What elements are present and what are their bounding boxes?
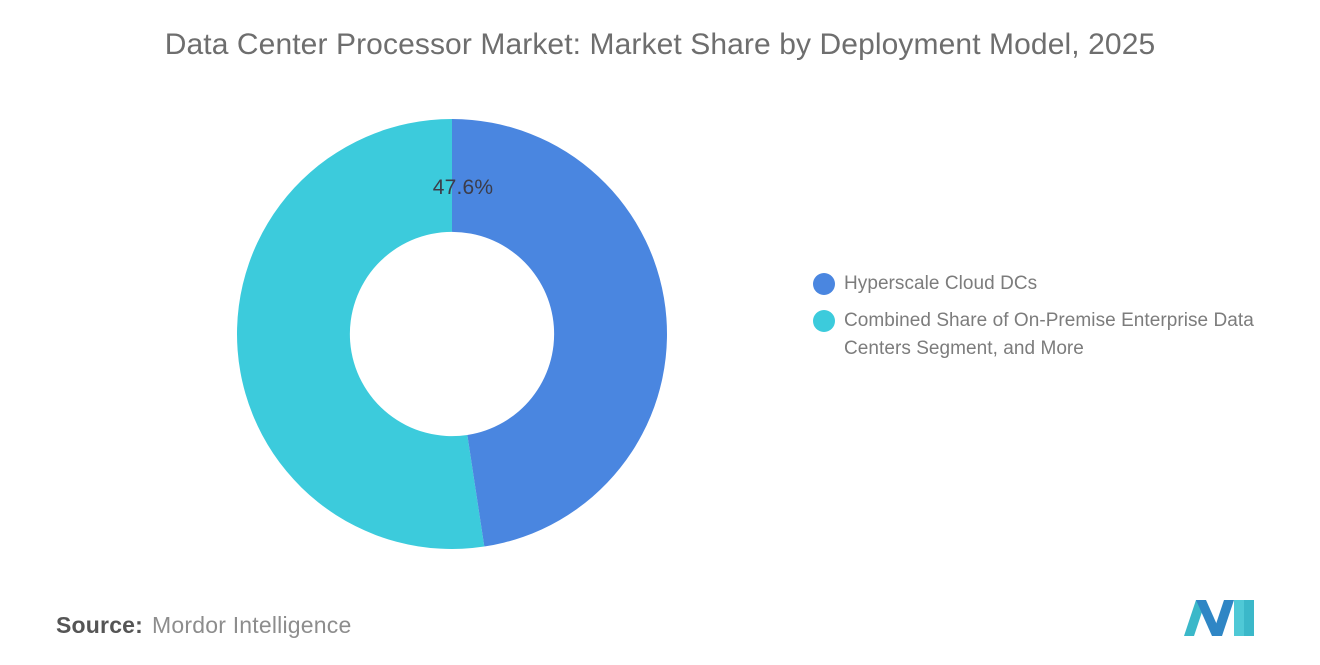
source-label: Source: <box>56 612 143 639</box>
mordor-intelligence-logo-icon <box>1182 598 1256 638</box>
legend-item-label: Combined Share of On-Premise Enterprise … <box>844 307 1280 363</box>
legend-color-swatch-icon <box>813 310 835 332</box>
chart-legend: Hyperscale Cloud DCs Combined Share of O… <box>813 270 1283 372</box>
legend-item-hyperscale-cloud-dcs[interactable]: Hyperscale Cloud DCs <box>813 270 1283 298</box>
source-attribution: Source: Mordor Intelligence <box>56 612 351 639</box>
legend-item-label: Hyperscale Cloud DCs <box>844 270 1037 298</box>
legend-color-swatch-icon <box>813 273 835 295</box>
logo-svg <box>1182 598 1256 638</box>
page-title: Data Center Processor Market: Market Sha… <box>0 28 1320 62</box>
legend-item-combined-share[interactable]: Combined Share of On-Premise Enterprise … <box>813 307 1283 363</box>
source-name: Mordor Intelligence <box>152 612 351 639</box>
donut-slice-value-label: 47.6% <box>403 176 523 200</box>
